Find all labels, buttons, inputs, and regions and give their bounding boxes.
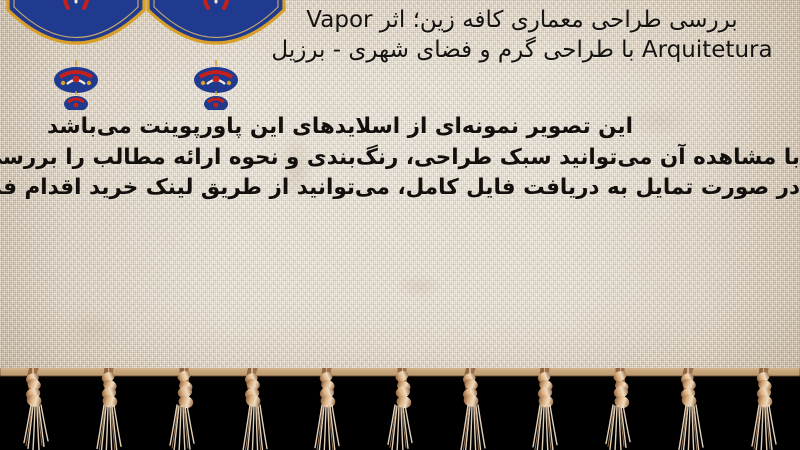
fringe-tassel xyxy=(83,368,135,450)
fringe-tassel xyxy=(10,368,62,450)
body-line-3: در صورت تمایل به دریافت فایل کامل، می‌تو… xyxy=(0,173,800,204)
body-line-1: این تصویر نمونه‌ای از اسلایدهای این پاور… xyxy=(0,112,800,143)
slide-title: بررسی طراحی معماری کافه زین؛ اثر Vapor A… xyxy=(262,6,782,66)
carpet-fringe-band xyxy=(0,368,800,450)
slide-canvas: بررسی طراحی معماری کافه زین؛ اثر Vapor A… xyxy=(0,0,800,450)
fringe-tassel xyxy=(229,368,281,450)
fringe-tassel xyxy=(374,368,426,450)
fringe-tassel xyxy=(519,368,571,450)
fringe-tassel xyxy=(447,368,499,450)
title-line-1: بررسی طراحی معماری کافه زین؛ اثر Vapor xyxy=(262,6,782,35)
body-line-2: با مشاهده آن می‌توانید سبک طراحی، رنگ‌بن… xyxy=(0,143,800,174)
title-line-2: Arquitetura با طراحی گرم و فضای شهری - ب… xyxy=(262,36,782,65)
fringe-tassel xyxy=(156,368,208,450)
fringe-tassel xyxy=(592,368,644,450)
fringe-tassel xyxy=(738,368,790,450)
fringe-tassel xyxy=(301,368,353,450)
fringe-tassel xyxy=(665,368,717,450)
slide-body-text: این تصویر نمونه‌ای از اسلایدهای این پاور… xyxy=(0,112,800,204)
